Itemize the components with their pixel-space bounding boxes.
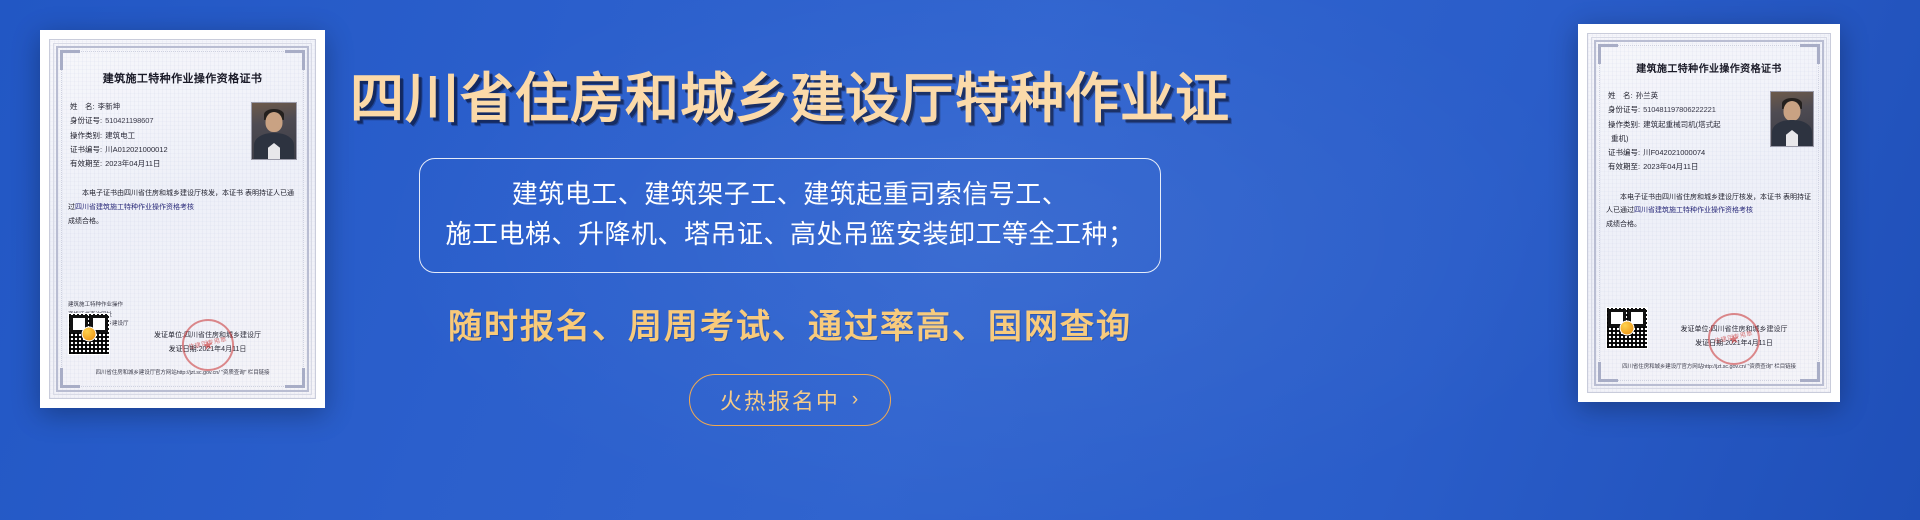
scope-line: 建筑电工、建筑架子工、建筑起重司索信号工、 <box>440 175 1140 215</box>
scope-box: 建筑电工、建筑架子工、建筑起重司索信号工、 施工电梯、升降机、塔吊证、高处吊篮安… <box>419 158 1161 273</box>
field-label: 操作类别: <box>70 129 102 143</box>
qr-center-badge <box>1620 321 1635 336</box>
certificate-portrait-photo <box>251 102 297 160</box>
scope-line: 施工电梯、升降机、塔吊证、高处吊篮安装卸工等全工种； <box>440 215 1140 255</box>
statement-part-1: 本电子证书由四川省住房和城乡建设厅核发，本证书 <box>1620 194 1781 201</box>
certificate-statement: 本电子证书由四川省住房和城乡建设厅核发，本证书 表明持证人已通过四川省建筑施工特… <box>64 187 301 228</box>
field-label: 姓 名: <box>70 100 95 114</box>
statement-part-1: 本电子证书由四川省住房和城乡建设厅核发，本证书 <box>82 190 243 197</box>
certificate-issuer-block: 住建厅专用章 ★ 发证单位:四川省住房和城乡建设厅 发证日期:2021年4月11… <box>118 313 297 356</box>
cta-label: 火热报名中 <box>720 384 840 416</box>
side-note-line: 建筑施工特种作业操作 <box>68 301 129 311</box>
field-value: 重机) <box>1611 132 1629 146</box>
certificate-issuer-block: 住建厅专用章 ★ 发证单位:四川省住房和城乡建设厅 发证日期:2021年4月11… <box>1656 307 1812 350</box>
portrait-head <box>266 112 283 132</box>
portrait-head <box>1784 101 1801 121</box>
field-value: 510421198607 <box>105 114 153 128</box>
certificate-body-left: 建筑施工特种作业操作资格证书 姓 名: 李新坤 身份证号: 51042 <box>64 54 301 384</box>
certificate-card-right: 建筑施工特种作业操作资格证书 姓 名: 孙兰英 身份证号: 51048 <box>1578 24 1840 402</box>
field-label: 有效期至: <box>70 157 102 171</box>
field-value: 川A012021000012 <box>105 143 168 157</box>
certificate-field-row: 证书编号: 川F042021000074 <box>1608 146 1816 160</box>
field-value: 建筑起重械司机(塔式起 <box>1643 118 1721 132</box>
banner-tagline: 随时报名、周周考试、通过率高、国网查询 <box>448 299 1132 348</box>
certificate-footer-url: 四川省住房和城乡建设厅官方网站http://jzt.sc.gov.cn/ "资质… <box>1606 362 1812 370</box>
certificate-body-right: 建筑施工特种作业操作资格证书 姓 名: 孙兰英 身份证号: 51048 <box>1602 48 1816 378</box>
certificate-title: 建筑施工特种作业操作资格证书 <box>64 70 301 86</box>
certificate-portrait-photo <box>1770 91 1814 147</box>
certificate-inner-left: 建筑施工特种作业操作资格证书 姓 名: 李新坤 身份证号: 51042 <box>49 39 316 399</box>
banner-headline: 四川省住房和城乡建设厅特种作业证 <box>350 72 1230 126</box>
statement-tail: 成绩合格。 <box>68 215 297 229</box>
certificate-footer-url: 四川省住房和城乡建设厅官方网站http://jzt.sc.gov.cn/ "资质… <box>68 368 297 376</box>
certificate-inner-right: 建筑施工特种作业操作资格证书 姓 名: 孙兰英 身份证号: 51048 <box>1587 33 1831 393</box>
field-value: 2023年04月11日 <box>1643 160 1698 174</box>
field-label: 有效期至: <box>1608 160 1640 174</box>
field-label: 操作类别: <box>1608 118 1640 132</box>
certificate-fields: 姓 名: 李新坤 身份证号: 510421198607 操作类别: 建筑电工 证… <box>64 100 301 171</box>
seal-star-icon: ★ <box>200 338 215 353</box>
certificate-card-left: 建筑施工特种作业操作资格证书 姓 名: 李新坤 身份证号: 51042 <box>40 30 325 408</box>
field-value: 川F042021000074 <box>1643 146 1705 160</box>
statement-highlight: 四川省建筑施工特种作业操作资格考核 <box>75 204 194 211</box>
chevron-right-icon: › <box>852 389 860 411</box>
field-value: 孙兰英 <box>1636 89 1659 103</box>
banner-center-content: 四川省住房和城乡建设厅特种作业证 建筑电工、建筑架子工、建筑起重司索信号工、 施… <box>355 0 1225 520</box>
statement-highlight: 四川省建筑施工特种作业操作资格考核 <box>1634 207 1753 214</box>
enroll-cta-button[interactable]: 火热报名中 › <box>689 374 891 426</box>
qr-code-icon <box>68 313 110 355</box>
issuer-label: 发证单位: <box>154 332 184 339</box>
official-seal-stamp: 住建厅专用章 ★ <box>177 315 239 377</box>
field-value: 建筑电工 <box>105 129 135 143</box>
official-seal-stamp: 住建厅专用章 ★ <box>1703 309 1765 371</box>
qr-code-icon <box>1606 307 1648 349</box>
field-value: 510481197806222221 <box>1643 103 1716 117</box>
statement-tail: 成绩合格。 <box>1606 218 1812 232</box>
certificate-footer-block: 住建厅专用章 ★ 发证单位:四川省住房和城乡建设厅 发证日期:2021年4月11… <box>1606 307 1812 350</box>
promo-banner: 建筑施工特种作业操作资格证书 姓 名: 李新坤 身份证号: 51042 <box>0 0 1920 520</box>
certificate-fields: 姓 名: 孙兰英 身份证号: 510481197806222221 操作类别: … <box>1602 89 1816 175</box>
field-value: 2023年04月11日 <box>105 157 160 171</box>
issuer-label: 发证单位: <box>1681 326 1711 333</box>
qr-center-badge <box>82 327 97 342</box>
seal-star-icon: ★ <box>1727 332 1742 347</box>
field-label: 身份证号: <box>70 114 102 128</box>
field-label: 姓 名: <box>1608 89 1633 103</box>
certificate-title: 建筑施工特种作业操作资格证书 <box>1602 60 1816 75</box>
certificate-statement: 本电子证书由四川省住房和城乡建设厅核发，本证书 表明持证人已通过四川省建筑施工特… <box>1602 191 1816 232</box>
field-value: 李新坤 <box>98 100 121 114</box>
field-label: 证书编号: <box>1608 146 1640 160</box>
certificate-field-row: 有效期至: 2023年04月11日 <box>1608 160 1816 174</box>
field-label: 身份证号: <box>1608 103 1640 117</box>
certificate-footer-block: 住建厅专用章 ★ 发证单位:四川省住房和城乡建设厅 发证日期:2021年4月11… <box>68 313 297 356</box>
field-label: 证书编号: <box>70 143 102 157</box>
